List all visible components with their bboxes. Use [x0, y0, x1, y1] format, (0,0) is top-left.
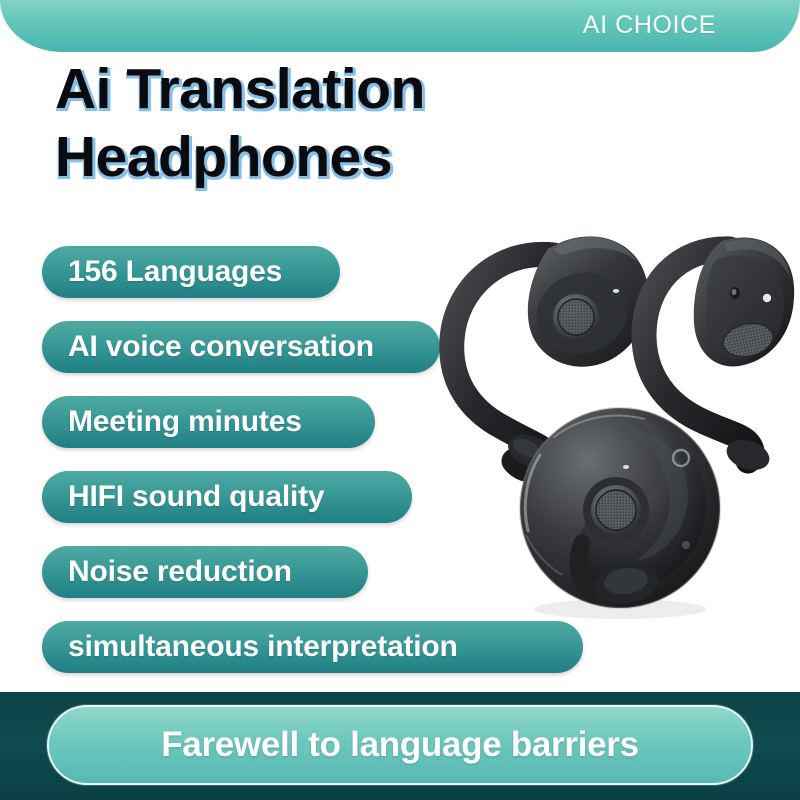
feature-pill-languages[interactable]: 156 Languages	[42, 246, 340, 298]
top-banner: AI CHOICE	[0, 0, 800, 52]
charging-case	[520, 408, 720, 619]
bottom-banner: Farewell to language barriers	[0, 692, 800, 800]
feature-pill-hifi-sound-quality[interactable]: HIFI sound quality	[42, 471, 412, 523]
feature-pill-label: HIFI sound quality	[68, 482, 324, 512]
cta-label: Farewell to language barriers	[161, 725, 639, 765]
cta-button[interactable]: Farewell to language barriers	[47, 705, 753, 785]
product-image-group	[430, 205, 800, 635]
product-poster: AI CHOICE Ai Translation Headphones 156 …	[0, 0, 800, 800]
feature-pill-label: simultaneous interpretation	[68, 632, 458, 662]
feature-pill-noise-reduction[interactable]: Noise reduction	[42, 546, 368, 598]
title-line-2: Headphones	[55, 123, 525, 191]
feature-pill-ai-voice-conversation[interactable]: AI voice conversation	[42, 321, 440, 373]
feature-pill-label: Meeting minutes	[68, 407, 302, 437]
ai-choice-label: AI CHOICE	[583, 11, 716, 40]
title-line-1: Ai Translation	[55, 55, 525, 123]
feature-pill-label: AI voice conversation	[68, 332, 374, 362]
feature-pill-label: Noise reduction	[68, 557, 292, 587]
feature-pill-label: 156 Languages	[68, 257, 282, 287]
feature-pill-meeting-minutes[interactable]: Meeting minutes	[42, 396, 375, 448]
page-title: Ai Translation Headphones	[55, 55, 525, 192]
